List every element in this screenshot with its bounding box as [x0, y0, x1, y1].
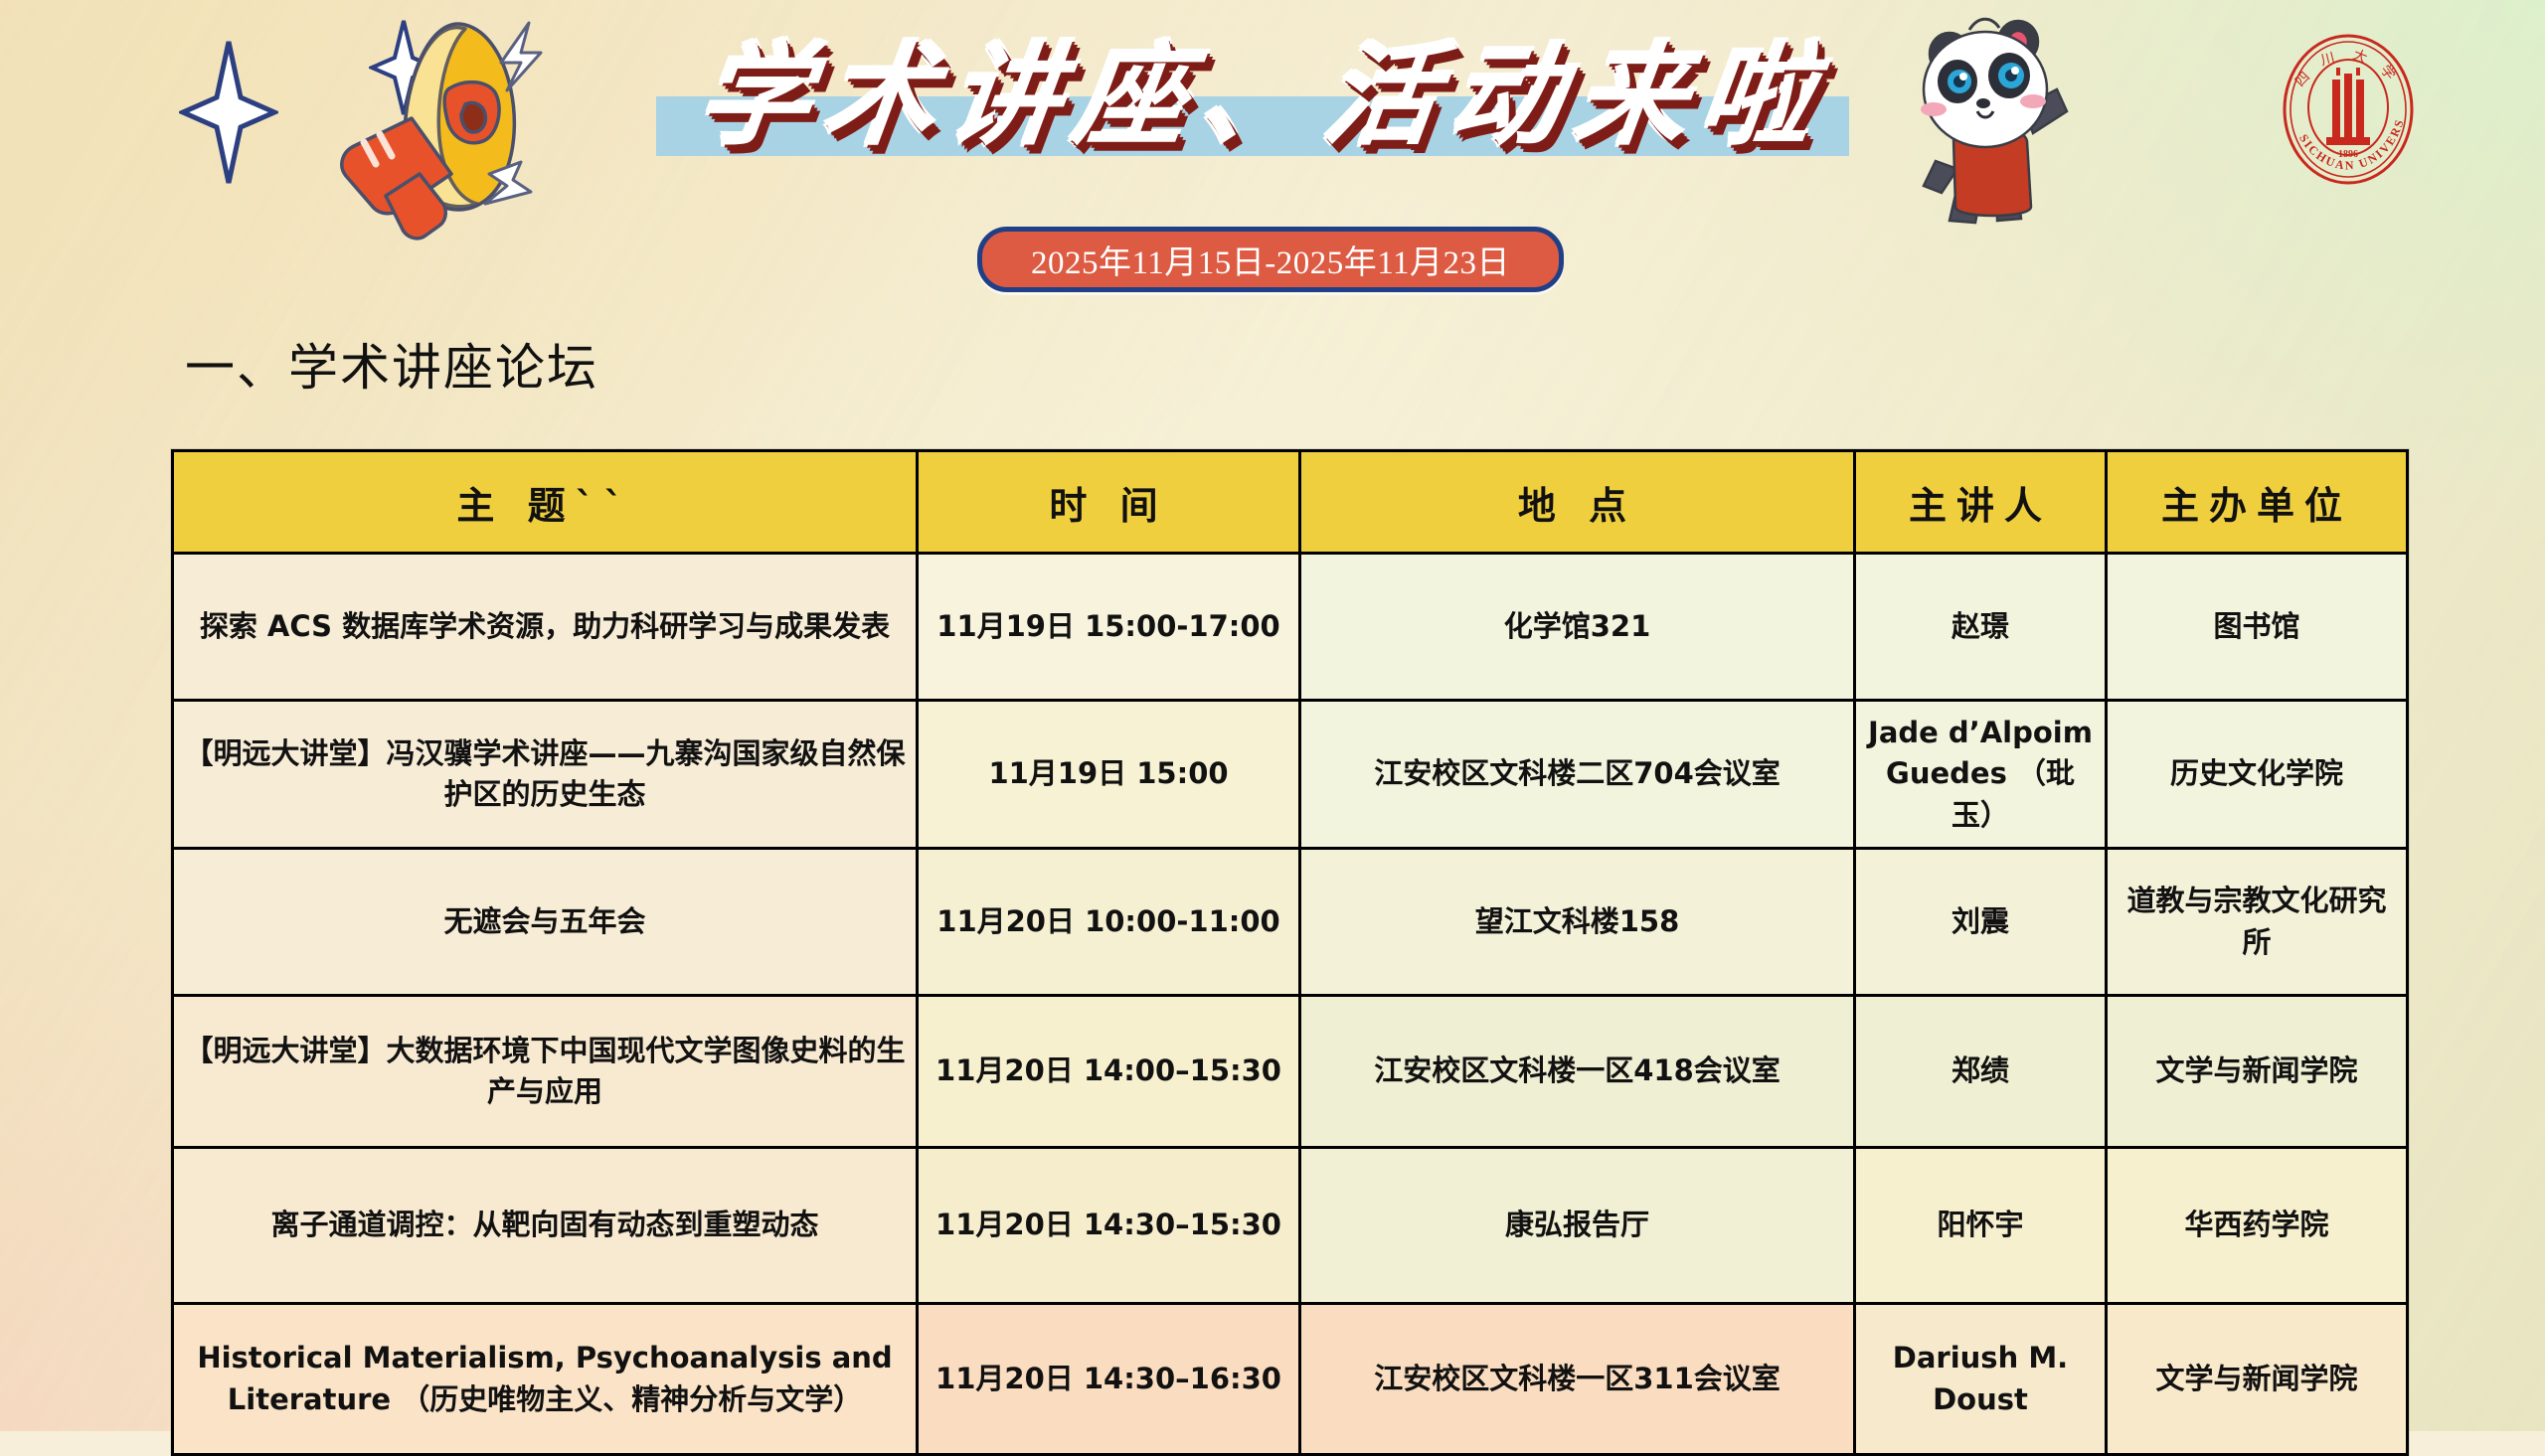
page-title: 学术讲座、活动来啦 [647, 28, 1877, 167]
table-header-row: 主 题`` 时 间 地 点 主讲人 主办单位 [173, 451, 2408, 554]
panda-mascot-icon [1906, 12, 2090, 226]
cell-topic: 【明远大讲堂】冯汉骥学术讲座——九寨沟国家级自然保护区的历史生态 [173, 701, 918, 849]
table-row: 【明远大讲堂】大数据环境下中国现代文学图像史料的生产与应用 11月20日 14:… [173, 996, 2408, 1148]
column-header-place: 地 点 [1300, 451, 1855, 554]
cell-time: 11月20日 10:00-11:00 [918, 849, 1300, 996]
cell-time: 11月19日 15:00 [918, 701, 1300, 849]
sparkle-icon [179, 38, 278, 187]
column-header-time: 时 间 [918, 451, 1300, 554]
cell-speaker: 郑绩 [1855, 996, 2107, 1148]
cell-place: 江安校区文科楼一区311会议室 [1300, 1304, 1855, 1455]
table-row: 【明远大讲堂】冯汉骥学术讲座——九寨沟国家级自然保护区的历史生态 11月19日 … [173, 701, 2408, 849]
cell-organizer: 历史文化学院 [2107, 701, 2408, 849]
column-header-organizer: 主办单位 [2107, 451, 2408, 554]
cell-place: 化学馆321 [1300, 554, 1855, 701]
column-header-speaker: 主讲人 [1855, 451, 2107, 554]
cell-time: 11月20日 14:00–15:30 [918, 996, 1300, 1148]
cell-time: 11月19日 15:00-17:00 [918, 554, 1300, 701]
cell-speaker: 赵璟 [1855, 554, 2107, 701]
section-heading: 一、学术讲座论坛 [185, 328, 598, 400]
cell-speaker: 刘震 [1855, 849, 2107, 996]
cell-topic: 【明远大讲堂】大数据环境下中国现代文学图像史料的生产与应用 [173, 996, 918, 1148]
cell-organizer: 华西药学院 [2107, 1148, 2408, 1304]
table-row: 无遮会与五年会 11月20日 10:00-11:00 望江文科楼158 刘震 道… [173, 849, 2408, 996]
cell-place: 江安校区文科楼二区704会议室 [1300, 701, 1855, 849]
table-row: 离子通道调控：从靶向固有动态到重塑动态 11月20日 14:30–15:30 康… [173, 1148, 2408, 1304]
column-header-topic: 主 题`` [173, 451, 918, 554]
cell-speaker: Dariush M. Doust [1855, 1304, 2107, 1455]
date-range-badge: 2025年11月15日-2025年11月23日 [977, 227, 1564, 292]
table-row: Historical Materialism, Psychoanalysis a… [173, 1304, 2408, 1455]
cell-organizer: 道教与宗教文化研究所 [2107, 849, 2408, 996]
date-range-text: 2025年11月15日-2025年11月23日 [1031, 236, 1510, 283]
cell-place: 江安校区文科楼一区418会议室 [1300, 996, 1855, 1148]
cell-organizer: 文学与新闻学院 [2107, 996, 2408, 1148]
cell-speaker: Jade d’Alpoim Guedes （玭玉） [1855, 701, 2107, 849]
cell-speaker: 阳怀宇 [1855, 1148, 2107, 1304]
megaphone-icon [316, 15, 594, 243]
cell-organizer: 文学与新闻学院 [2107, 1304, 2408, 1455]
cell-topic: 探索 ACS 数据库学术资源，助力科研学习与成果发表 [173, 554, 918, 701]
cell-place: 望江文科楼158 [1300, 849, 1855, 996]
lecture-schedule-table: 主 题`` 时 间 地 点 主讲人 主办单位 探索 ACS 数据库学术资源，助力… [171, 449, 2409, 1456]
cell-topic: Historical Materialism, Psychoanalysis a… [173, 1304, 918, 1455]
cell-topic: 离子通道调控：从靶向固有动态到重塑动态 [173, 1148, 918, 1304]
cell-time: 11月20日 14:30–16:30 [918, 1304, 1300, 1455]
cell-organizer: 图书馆 [2107, 554, 2408, 701]
cell-place: 康弘报告厅 [1300, 1148, 1855, 1304]
table-row: 探索 ACS 数据库学术资源，助力科研学习与成果发表 11月19日 15:00-… [173, 554, 2408, 701]
cell-time: 11月20日 14:30–15:30 [918, 1148, 1300, 1304]
cell-topic: 无遮会与五年会 [173, 849, 918, 996]
sichuan-university-logo: 1896 SICHUAN UNIVERSITY 四川大学 [2267, 28, 2431, 192]
